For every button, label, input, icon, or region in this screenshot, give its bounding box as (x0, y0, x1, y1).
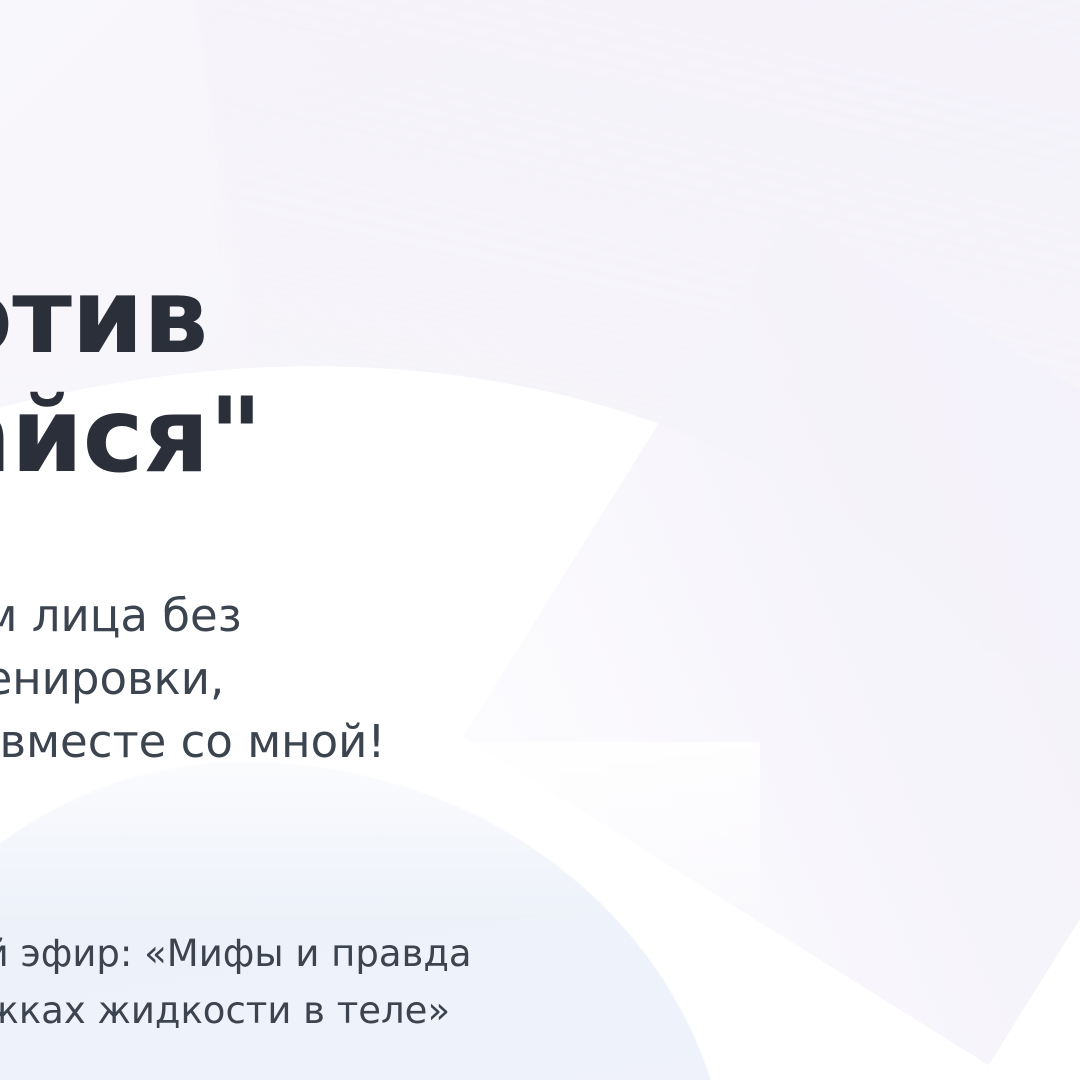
headline-line-1: отив (0, 258, 702, 377)
headline-line-2: айся" (0, 377, 702, 496)
body-line-1: ом лица без (0, 584, 716, 647)
promo-slide: отив айся" ом лица без ренировки, и вмес… (0, 0, 1080, 1080)
caption-line-1: ой эфир: «Мифы и правда (0, 925, 722, 982)
caption-line-2: ржках жидкости в теле» (0, 982, 722, 1039)
headline: отив айся" (0, 258, 702, 497)
body-line-3: и вместе со мной! (0, 710, 716, 773)
body-copy: ом лица без ренировки, и вместе со мной! (0, 584, 716, 773)
body-line-2: ренировки, (0, 647, 716, 710)
caption: ой эфир: «Мифы и правда ржках жидкости в… (0, 925, 722, 1040)
slide-content: отив айся" ом лица без ренировки, и вмес… (0, 0, 1080, 1080)
